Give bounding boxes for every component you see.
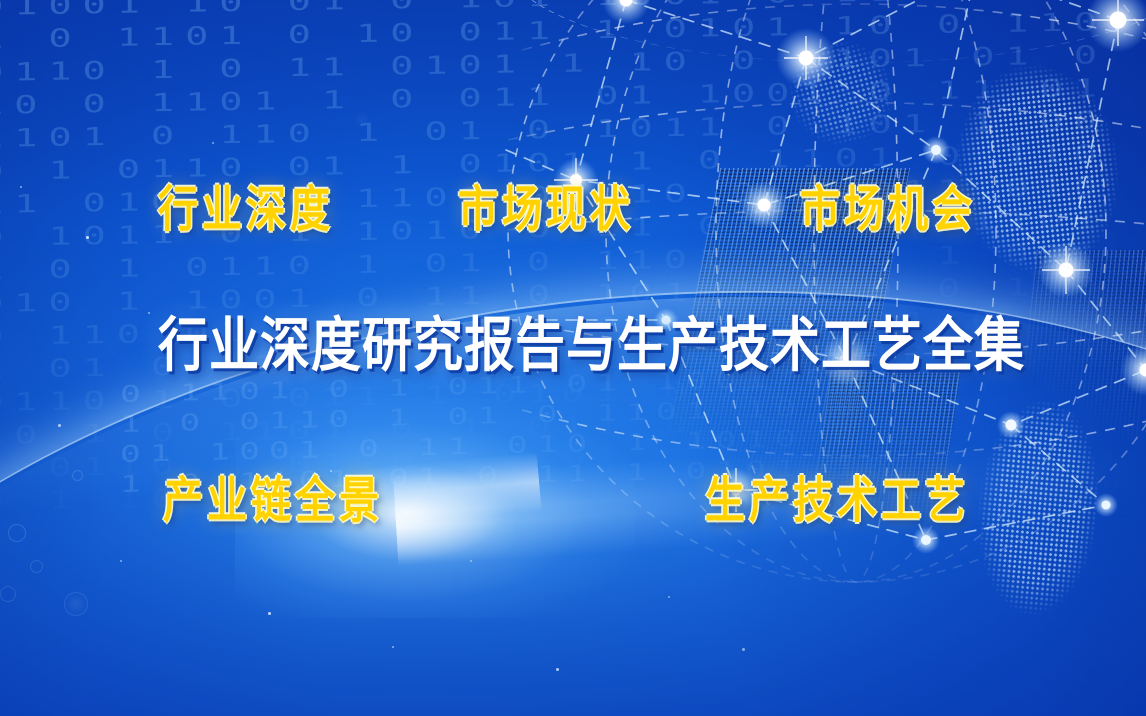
keyword-market-opportunity: 市场机会: [800, 186, 976, 235]
keyword-industry-chain-panorama: 产业链全景: [163, 477, 383, 526]
page-title: 行业深度研究报告与生产技术工艺全集: [158, 316, 1025, 375]
text-layer: 行业深度 市场现状 市场机会 行业深度研究报告与生产技术工艺全集 产业链全景 生…: [0, 0, 1146, 716]
keyword-industry-depth: 行业深度: [158, 186, 334, 235]
poster-canvas: 01001 10 01 0 101 1001 0 11 010 1 1 0 11…: [0, 0, 1146, 716]
keyword-production-technology: 生产技术工艺: [705, 477, 969, 526]
keyword-market-status: 市场现状: [458, 186, 634, 235]
